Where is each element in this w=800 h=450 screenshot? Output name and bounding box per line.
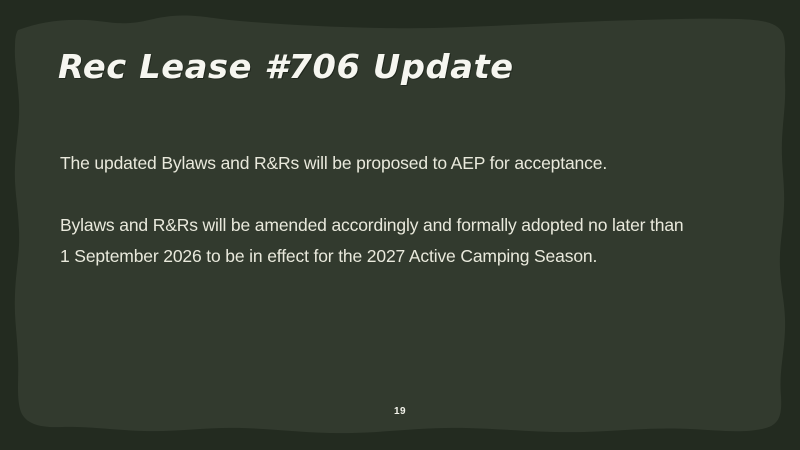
slide-body: The updated Bylaws and R&Rs will be prop…: [60, 148, 760, 272]
body-paragraph-2: Bylaws and R&Rs will be amended accordin…: [60, 210, 760, 272]
slide: Rec Lease #706 Update The updated Bylaws…: [0, 0, 800, 450]
slide-title: Rec Lease #706 Update: [58, 47, 514, 86]
body-paragraph-1: The updated Bylaws and R&Rs will be prop…: [60, 148, 760, 179]
page-number: 19: [0, 406, 800, 417]
slide-content: Rec Lease #706 Update The updated Bylaws…: [0, 0, 800, 450]
